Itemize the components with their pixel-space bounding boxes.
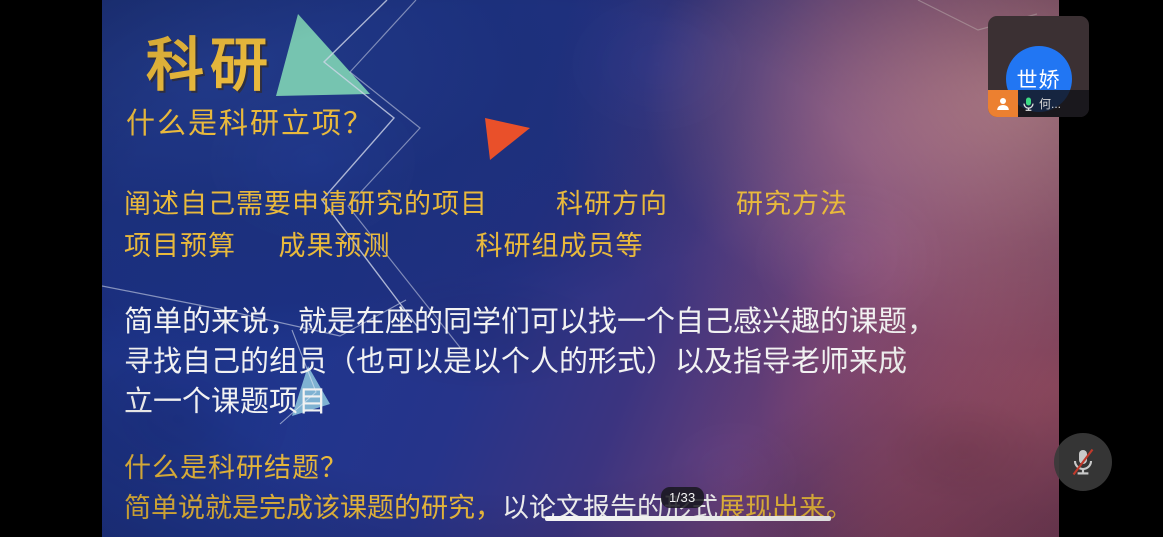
screen-share-viewport: 科研 什么是科研立项？ 阐述自己需要申请研究的项目 科研方向 研究方法 项目预算… [0, 0, 1163, 537]
letterbox-bar-left [0, 0, 102, 537]
microphone-mute-button[interactable] [1054, 433, 1112, 491]
page-indicator: 1/33 [661, 487, 704, 508]
microphone-muted-icon [1068, 446, 1098, 478]
orange-triangle-icon [485, 118, 530, 160]
polyline-decor-a [322, 0, 420, 330]
teal-triangle-icon [276, 14, 370, 96]
slide-paragraph-line-2: 寻找自己的组员（也可以是以个人的形式）以及指导老师来成 [124, 338, 907, 380]
answer-2-segment-gold-1: 简单说就是完成该课题的研究， [124, 493, 502, 523]
slide-bullet-row-1: 阐述自己需要申请研究的项目 科研方向 研究方法 [124, 182, 848, 221]
person-icon [995, 96, 1011, 112]
microphone-icon [1021, 96, 1036, 112]
slide-bullet-row-2: 项目预算 成果预测 科研组成员等 [124, 224, 644, 263]
participant-name-chip[interactable]: 何... [1018, 90, 1089, 117]
pin-participant-button[interactable] [988, 90, 1018, 117]
participant-video-thumbnail[interactable]: 世娇 何... [988, 16, 1089, 117]
presentation-slide[interactable]: 科研 什么是科研立项？ 阐述自己需要申请研究的项目 科研方向 研究方法 项目预算… [102, 0, 1059, 537]
slide-paragraph-line-3: 立一个课题项目 [124, 378, 327, 420]
slide-paragraph-line-1: 简单的来说，就是在座的同学们可以找一个自己感兴趣的课题， [124, 298, 936, 340]
slide-title: 科研 [146, 18, 274, 102]
participant-name-label: 何... [1039, 95, 1061, 112]
slide-question-2: 什么是科研结题？ [124, 446, 348, 485]
slide-subtitle: 什么是科研立项？ [126, 100, 374, 142]
thumbnail-footer: 何... [988, 90, 1089, 117]
text-selection-underline [545, 516, 831, 521]
